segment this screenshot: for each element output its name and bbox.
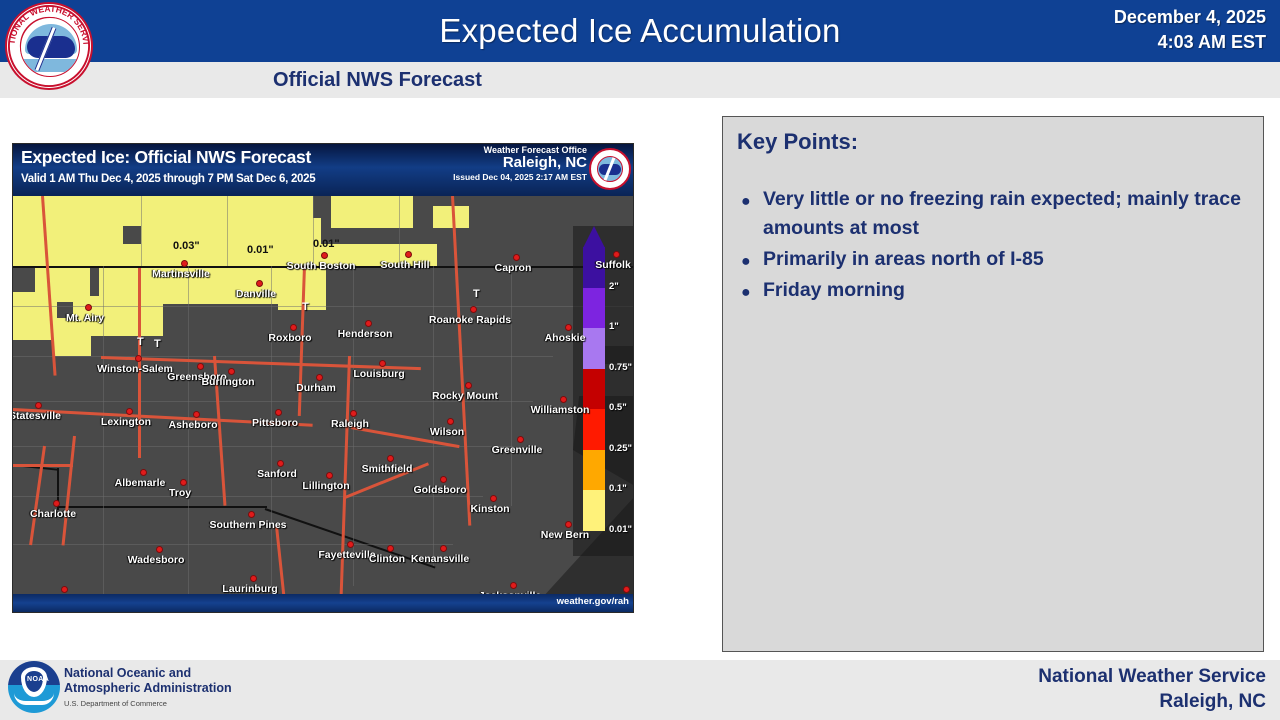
city-label: Henderson	[338, 328, 393, 340]
map-footer-url: weather.gov/rah	[557, 596, 629, 607]
city-label: Durham	[296, 382, 336, 394]
county-line	[271, 266, 272, 596]
city-label: Troy	[169, 487, 191, 499]
city-dot-icon	[197, 363, 204, 370]
city-label: Statesville	[13, 410, 61, 422]
city-dot-icon	[517, 436, 524, 443]
footer-office-line-1: National Weather Service	[1038, 664, 1266, 689]
city-label: Wilson	[430, 426, 464, 438]
county-line	[511, 266, 512, 506]
noaa-line-2: Atmospheric Administration	[64, 681, 232, 696]
county-line	[433, 266, 434, 566]
key-point-item: ●Primarily in areas north of I-85	[741, 245, 1249, 274]
wfo-office: Raleigh, NC	[453, 155, 587, 171]
city-dot-icon	[250, 575, 257, 582]
city-dot-icon	[447, 418, 454, 425]
city-dot-icon	[613, 251, 620, 258]
map-issued-time: Issued Dec 04, 2025 2:17 AM EST	[453, 173, 587, 182]
city-dot-icon	[560, 396, 567, 403]
header-time: 4:03 AM EST	[1114, 30, 1266, 55]
city-dot-icon	[35, 402, 42, 409]
footer-office: National Weather Service Raleigh, NC	[1038, 664, 1266, 714]
city-dot-icon	[248, 511, 255, 518]
county-line	[13, 496, 483, 497]
city-label: Charlotte	[30, 508, 76, 520]
page-title: Expected Ice Accumulation	[0, 0, 1280, 62]
city-dot-icon	[156, 546, 163, 553]
city-label: Martinsville	[152, 268, 210, 280]
county-line	[227, 196, 228, 266]
city-dot-icon	[365, 320, 372, 327]
interstate-line	[62, 436, 76, 546]
city-label: Suffolk	[595, 259, 631, 271]
city-label: Greenville	[492, 444, 543, 456]
nws-seal-icon	[589, 148, 631, 190]
trace-amount-marker: T	[473, 288, 480, 300]
city-dot-icon	[387, 545, 394, 552]
county-line	[399, 196, 400, 266]
ice-amount-label: 0.03"	[173, 240, 200, 252]
city-label: Raleigh	[331, 418, 369, 430]
county-line	[313, 196, 314, 266]
briefing-slide: Expected Ice Accumulation December 4, 20…	[0, 0, 1280, 720]
city-dot-icon	[350, 410, 357, 417]
interstate-line	[451, 196, 471, 526]
city-dot-icon	[565, 521, 572, 528]
footer-office-line-2: Raleigh, NC	[1038, 689, 1266, 714]
city-dot-icon	[379, 360, 386, 367]
city-dot-icon	[126, 408, 133, 415]
city-label: Lexington	[101, 416, 151, 428]
city-dot-icon	[180, 479, 187, 486]
county-line	[13, 356, 553, 357]
legend-segment	[583, 328, 605, 369]
city-label: Burlington	[201, 376, 254, 388]
city-label: Clinton	[369, 553, 405, 565]
city-dot-icon	[290, 324, 297, 331]
trace-amount-marker: T	[154, 338, 161, 350]
noaa-wordmark: NOAA	[27, 676, 49, 683]
legend-label: 0.5"	[609, 402, 627, 413]
key-point-text: Very little or no freezing rain expected…	[763, 185, 1249, 243]
city-dot-icon	[53, 500, 60, 507]
city-dot-icon	[513, 254, 520, 261]
legend-arrow-icon	[583, 226, 605, 248]
trace-amount-marker: T	[302, 301, 309, 313]
city-dot-icon	[387, 455, 394, 462]
city-label: Roxboro	[268, 332, 311, 344]
city-dot-icon	[490, 495, 497, 502]
map-legend: 2"1"0.75"0.5"0.25"0.1"0.01"	[573, 226, 634, 556]
county-line	[188, 266, 189, 596]
city-dot-icon	[193, 411, 200, 418]
legend-label: 0.01"	[609, 524, 632, 535]
legend-label: 0.25"	[609, 443, 632, 454]
city-label: Lillington	[302, 480, 349, 492]
noaa-line-3: U.S. Department of Commerce	[64, 699, 232, 708]
legend-segment	[583, 490, 605, 531]
ice-amount-label: 0.01"	[247, 244, 274, 256]
noaa-seagull-icon: NOAA	[8, 661, 60, 713]
map-footer-bar: weather.gov/rah	[13, 594, 634, 612]
city-dot-icon	[623, 586, 630, 593]
city-label: Kinston	[470, 503, 509, 515]
noaa-agency-text: National Oceanic and Atmospheric Adminis…	[64, 666, 232, 708]
city-dot-icon	[140, 469, 147, 476]
city-dot-icon	[256, 280, 263, 287]
bullet-icon: ●	[741, 185, 763, 210]
key-points-title: Key Points:	[737, 129, 858, 155]
city-dot-icon	[470, 306, 477, 313]
city-label: Smithfield	[362, 463, 413, 475]
county-line	[13, 544, 453, 545]
legend-colorbar	[583, 247, 605, 531]
county-line	[141, 196, 142, 266]
map-canvas: 2"1"0.75"0.5"0.25"0.1"0.01" 0.03"0.01"0.…	[13, 196, 634, 596]
sea-shape-icon	[23, 59, 79, 72]
city-label: Albemarle	[115, 477, 166, 489]
trace-zone	[331, 196, 413, 228]
city-label: South Boston	[287, 260, 356, 272]
legend-label: 1"	[609, 321, 619, 332]
city-label: Roanoke Rapids	[429, 314, 511, 326]
key-points-list: ●Very little or no freezing rain expecte…	[741, 185, 1249, 307]
nws-roundel-icon: NATIONAL WEATHER SERVICE ★ ★ ★	[5, 2, 93, 90]
city-dot-icon	[440, 476, 447, 483]
city-dot-icon	[465, 382, 472, 389]
city-dot-icon	[85, 304, 92, 311]
city-label: Goldsboro	[413, 484, 466, 496]
county-line	[13, 306, 634, 307]
city-label: Winston-Salem	[97, 363, 173, 375]
subheader-title: Official NWS Forecast	[0, 62, 1280, 98]
city-dot-icon	[510, 582, 517, 589]
key-point-text: Friday morning	[763, 276, 1249, 305]
city-label: Capron	[495, 262, 532, 274]
legend-segment	[583, 450, 605, 491]
legend-label: 0.1"	[609, 483, 627, 494]
city-dot-icon	[347, 541, 354, 548]
city-label: Mt. Airy	[66, 312, 104, 324]
county-line	[13, 446, 513, 447]
legend-label: 2"	[609, 281, 619, 292]
city-label: Fayetteville	[318, 549, 375, 561]
nws-logo-inner	[20, 17, 80, 77]
map-wfo-block: Weather Forecast Office Raleigh, NC Issu…	[453, 146, 587, 182]
key-points-panel: Key Points: ●Very little or no freezing …	[722, 116, 1264, 652]
key-point-item: ●Friday morning	[741, 276, 1249, 305]
map-banner-title: Expected Ice: Official NWS Forecast	[21, 147, 311, 168]
map-banner: Expected Ice: Official NWS Forecast Vali…	[13, 144, 634, 196]
legend-label: 0.75"	[609, 362, 632, 373]
city-label: Wadesboro	[128, 554, 185, 566]
city-label: Louisburg	[353, 368, 404, 380]
bullet-icon: ●	[741, 245, 763, 270]
city-dot-icon	[135, 355, 142, 362]
city-label: Southern Pines	[209, 519, 286, 531]
state-border	[57, 506, 267, 508]
trace-amount-marker: T	[137, 336, 144, 348]
city-label: South Hill	[381, 259, 430, 271]
city-label: Williamston	[531, 404, 590, 416]
city-label: Rocky Mount	[432, 390, 498, 402]
city-dot-icon	[277, 460, 284, 467]
city-dot-icon	[565, 324, 572, 331]
city-dot-icon	[440, 545, 447, 552]
noaa-line-1: National Oceanic and	[64, 666, 232, 681]
legend-segment	[583, 288, 605, 329]
header-date: December 4, 2025	[1114, 5, 1266, 30]
city-label: Ahoskie	[545, 332, 586, 344]
city-dot-icon	[228, 368, 235, 375]
city-label: Danville	[236, 288, 276, 300]
header-datetime: December 4, 2025 4:03 AM EST	[1114, 5, 1266, 55]
city-label: New Bern	[541, 529, 589, 541]
map-valid-time: Valid 1 AM Thu Dec 4, 2025 through 7 PM …	[21, 173, 315, 185]
city-label: Asheboro	[168, 419, 217, 431]
city-dot-icon	[275, 409, 282, 416]
key-point-text: Primarily in areas north of I-85	[763, 245, 1249, 274]
city-dot-icon	[326, 472, 333, 479]
city-dot-icon	[181, 260, 188, 267]
city-label: Kenansville	[411, 553, 469, 565]
city-dot-icon	[405, 251, 412, 258]
noaa-wave-shape	[14, 693, 54, 705]
ice-amount-label: 0.01"	[313, 238, 340, 250]
key-point-item: ●Very little or no freezing rain expecte…	[741, 185, 1249, 243]
city-dot-icon	[316, 374, 323, 381]
city-label: Pittsboro	[252, 417, 298, 429]
bullet-icon: ●	[741, 276, 763, 301]
forecast-map[interactable]: Expected Ice: Official NWS Forecast Vali…	[12, 143, 634, 613]
city-dot-icon	[61, 586, 68, 593]
city-dot-icon	[321, 252, 328, 259]
city-label: Sanford	[257, 468, 297, 480]
